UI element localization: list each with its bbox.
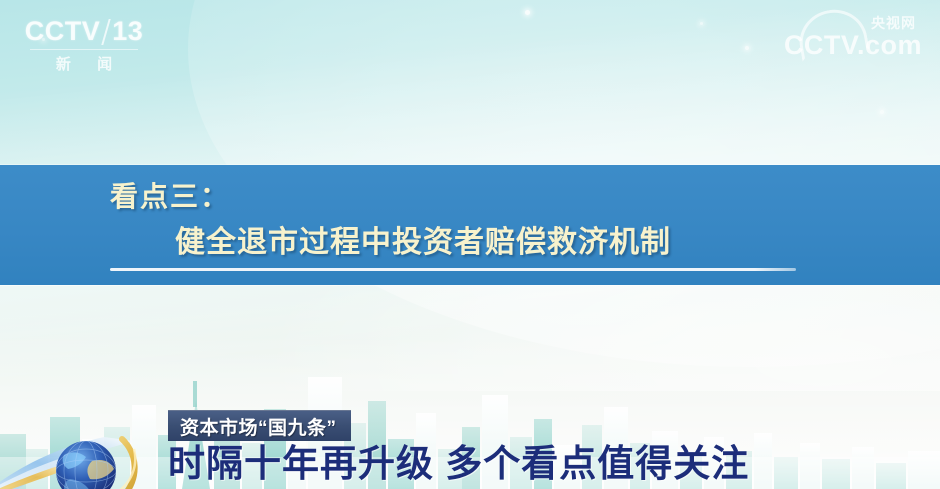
channel-number: 13 (112, 18, 143, 45)
globe-ribbon-graphic (0, 431, 174, 489)
sparkle-icon (880, 110, 884, 114)
cctv-com-watermark: 央视网 CCTV.com (784, 16, 922, 59)
cctv-wordmark: CCTV (25, 18, 101, 45)
chyron-headline-text: 时隔十年再升级 多个看点值得关注 (168, 442, 749, 486)
logo-slash-icon (101, 19, 110, 45)
cctv13-channel-logo: CCTV 13 新 闻 (24, 18, 144, 74)
channel-subtitle: 新 闻 (24, 53, 144, 74)
banner-main-text: 健全退市过程中投资者赔偿救济机制 (175, 217, 671, 261)
sparkle-icon (745, 46, 749, 50)
broadcast-screen: CCTV 13 新 闻 央视网 CCTV.com 看点三： 健全退市过程中投资者… (0, 0, 940, 489)
cctv-logo-row: CCTV 13 (24, 18, 144, 45)
banner-kicker-text: 看点三： (110, 175, 230, 215)
logo-divider (30, 49, 138, 50)
sparkle-icon (525, 10, 530, 15)
chyron-kicker-box: 资本市场“国九条” (168, 410, 351, 441)
key-point-banner: 看点三： 健全退市过程中投资者赔偿救济机制 (0, 165, 940, 285)
chyron-kicker-text: 资本市场“国九条” (180, 413, 337, 440)
banner-underline (110, 268, 796, 271)
sparkle-icon (700, 22, 703, 25)
